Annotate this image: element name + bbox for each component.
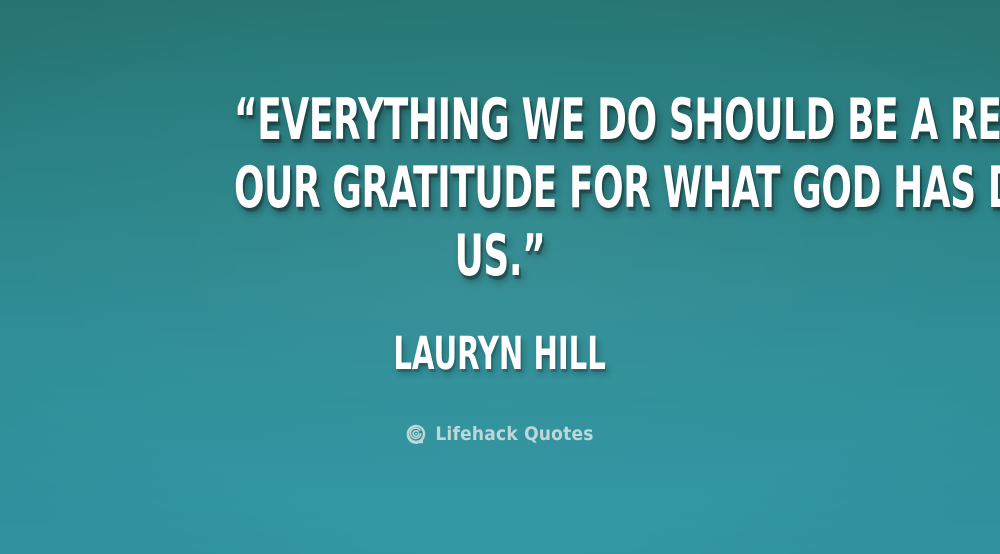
brand-name: Lifehack Quotes	[435, 424, 593, 444]
lifehack-swirl-logo-icon	[406, 424, 426, 444]
quote-line-3: US.”	[234, 222, 766, 290]
quote-line-2: OUR GRATITUDE FOR WHAT GOD HAS DONE FOR	[234, 154, 766, 222]
quote-text-block: “EVERYTHING WE DO SHOULD BE A RESULT OF …	[120, 86, 880, 290]
quote-line-1: “EVERYTHING WE DO SHOULD BE A RESULT OF	[234, 86, 766, 154]
brand-watermark: Lifehack Quotes	[406, 424, 593, 444]
quote-author: LAURYN HILL	[394, 330, 607, 378]
quote-card: “EVERYTHING WE DO SHOULD BE A RESULT OF …	[0, 0, 1000, 554]
